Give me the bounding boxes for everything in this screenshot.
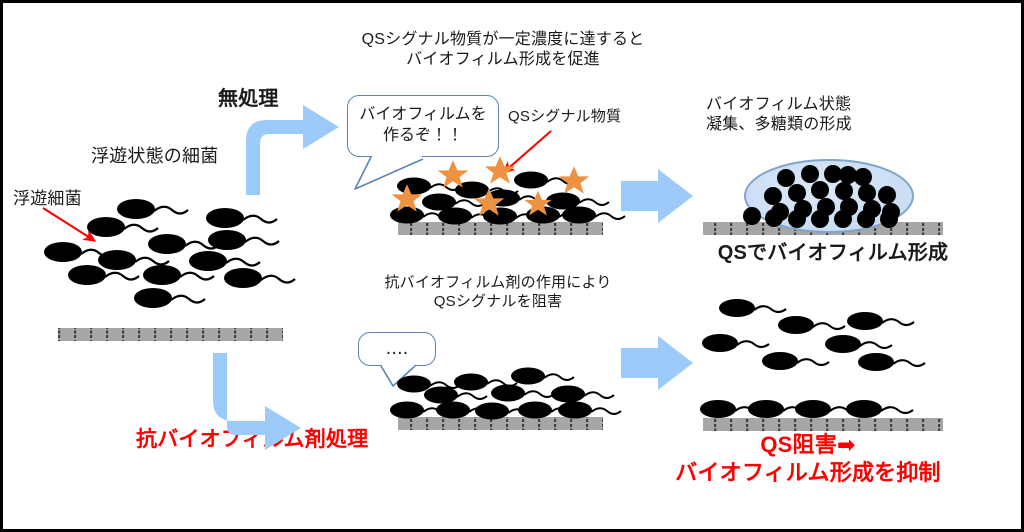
hatched-surface-icon-biofilm: [703, 222, 943, 235]
result-untreated-biofilm: QSでバイオフィルム形成: [683, 241, 983, 267]
star-icon: [392, 184, 422, 211]
speech-bubble-tail-untreated: [355, 156, 423, 189]
star-icon: [524, 191, 552, 216]
speech-bubble-untreated: バイオフィルムを 作るぞ！！: [347, 95, 499, 157]
dispersed-bacteria-cluster: [700, 299, 925, 418]
hatched-surface-icon-left: [58, 328, 283, 341]
planktonic-bacteria-cluster: [44, 199, 295, 308]
red-arrow-icon-qs-signal: [503, 131, 551, 173]
star-icon: [438, 160, 468, 187]
untreated-bacteria-cluster: [390, 172, 625, 225]
arrow-right-icon-untreated: [621, 169, 693, 223]
caption-anti-biofilm-agent-blocks-qs: 抗バイオフィルム剤の作用により QSシグナルを阻害: [353, 273, 643, 311]
label-anti-biofilm-treatment: 抗バイオフィルム剤処理: [136, 427, 368, 454]
label-untreated: 無処理: [218, 87, 279, 113]
speech-bubble-treated: ‥‥: [358, 332, 436, 366]
star-icon: [485, 156, 515, 183]
label-qs-signal-molecule: QSシグナル物質: [508, 107, 621, 126]
caption-top-qs-promotes-biofilm: QSシグナル物質が一定濃度に達すると バイオフィルム形成を促進: [338, 30, 668, 71]
figure-canvas: QSシグナル物質が一定濃度に達すると バイオフィルム形成を促進 無処理 浮遊状態…: [0, 0, 1024, 532]
biofilm-matrix-icon: [743, 160, 913, 232]
hatched-surface-icon-treated: [398, 417, 603, 430]
hatched-surface-icon-untreated: [398, 222, 603, 235]
caption-biofilm-state: バイオフィルム状態 凝集、多糖類の形成: [706, 95, 976, 136]
result-treated-inhibition: QS阻害➡ バイオフィルム形成を抑制: [633, 431, 983, 487]
label-planktonic-bacteria: 浮遊細菌: [13, 188, 82, 210]
arrow-right-icon-treated: [621, 336, 693, 390]
red-arrow-icon-planktonic: [43, 208, 95, 241]
hatched-surface-icon-dispersed: [703, 418, 943, 431]
star-icon: [474, 188, 504, 215]
speech-bubble-tail-treated: [381, 365, 415, 386]
qs-signal-star-group: [392, 156, 589, 215]
bent-arrow-right-icon-untreated: [246, 105, 339, 195]
treated-bacteria-cluster: [390, 368, 621, 420]
star-icon: [559, 166, 589, 193]
label-planktonic-state: 浮遊状態の細菌: [91, 145, 218, 168]
